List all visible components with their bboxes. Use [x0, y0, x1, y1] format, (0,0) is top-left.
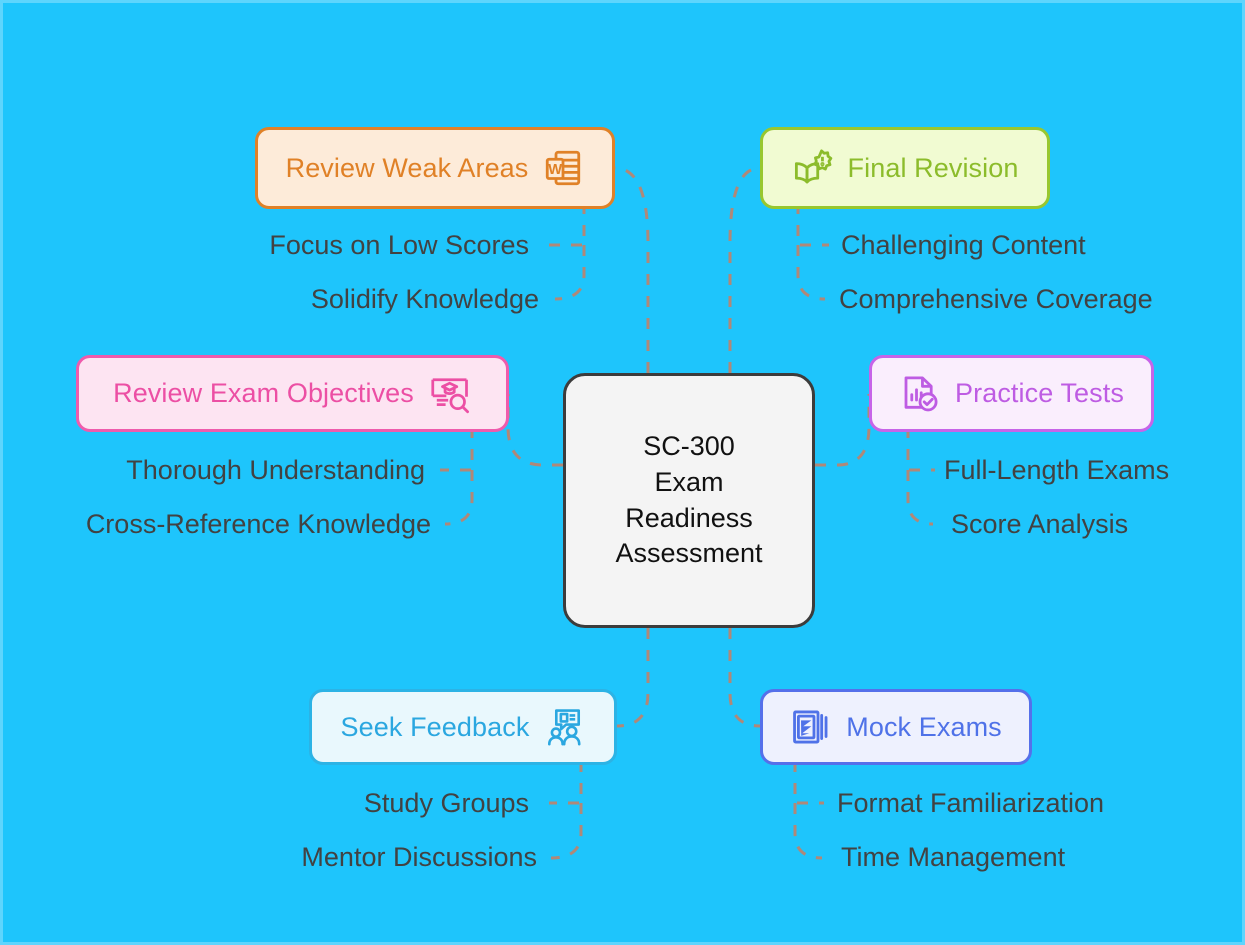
branch-label-review-weak-areas: Review Weak Areas — [286, 155, 529, 182]
branch-node-seek-feedback[interactable]: Seek Feedback — [309, 689, 617, 765]
edge-sf-leaf-1 — [549, 761, 581, 803]
center-node-label: SC-300 Exam Readiness Assessment — [615, 429, 762, 573]
branch-label-seek-feedback: Seek Feedback — [341, 714, 530, 741]
leaf-solidify-knowledge: Solidify Knowledge — [311, 286, 539, 313]
leaf-cross-reference-knowledge: Cross-Reference Knowledge — [86, 511, 431, 538]
edge-sf-leaf-2 — [551, 803, 581, 858]
edge-me-leaf-2 — [795, 803, 822, 858]
center-node[interactable]: SC-300 Exam Readiness Assessment — [563, 373, 815, 628]
branch-node-mock-exams[interactable]: Mock Exams — [760, 689, 1032, 765]
exam-papers-icon — [790, 706, 832, 748]
leaf-score-analysis: Score Analysis — [951, 511, 1128, 538]
edge-center-to-mock-exams — [730, 628, 760, 726]
edge-fr-leaf-1 — [798, 203, 829, 245]
edge-center-to-final-revision — [730, 168, 760, 373]
edge-rwa-leaf-2 — [555, 245, 584, 299]
edge-center-to-review-weak-areas — [615, 168, 648, 373]
branch-label-review-exam-objectives: Review Exam Objectives — [113, 380, 414, 407]
edge-reo-leaf-2 — [445, 470, 472, 524]
leaf-thorough-understanding: Thorough Understanding — [126, 457, 425, 484]
leaf-study-groups: Study Groups — [364, 790, 529, 817]
leaf-format-familiarization: Format Familiarization — [837, 790, 1104, 817]
edge-center-to-practice-tests — [815, 394, 869, 465]
branch-label-final-revision: Final Revision — [848, 155, 1019, 182]
report-check-icon — [899, 373, 941, 415]
branch-label-practice-tests: Practice Tests — [955, 380, 1124, 407]
feedback-people-icon — [543, 706, 585, 748]
edge-center-to-review-exam-objectives — [508, 394, 563, 465]
edge-center-to-seek-feedback — [617, 628, 648, 726]
svg-text:W: W — [549, 162, 563, 178]
leaf-focus-on-low-scores: Focus on Low Scores — [269, 232, 529, 259]
leaf-time-management: Time Management — [841, 844, 1065, 871]
edge-rwa-leaf-1 — [545, 203, 584, 245]
leaf-mentor-discussions: Mentor Discussions — [301, 844, 537, 871]
book-alert-icon — [792, 147, 834, 189]
branch-node-practice-tests[interactable]: Practice Tests — [869, 355, 1154, 432]
leaf-challenging-content: Challenging Content — [841, 232, 1086, 259]
branch-node-review-exam-objectives[interactable]: Review Exam Objectives — [76, 355, 509, 432]
edge-pt-leaf-2 — [908, 470, 933, 524]
edge-me-leaf-1 — [795, 761, 824, 803]
branch-label-mock-exams: Mock Exams — [846, 714, 1002, 741]
leaf-full-length-exams: Full-Length Exams — [944, 457, 1169, 484]
edge-pt-leaf-1 — [908, 427, 935, 470]
leaf-comprehensive-coverage: Comprehensive Coverage — [839, 286, 1153, 313]
graduation-search-icon — [428, 372, 472, 416]
word-document-icon: W — [542, 147, 584, 189]
branch-node-final-revision[interactable]: Final Revision — [760, 127, 1050, 209]
edge-fr-leaf-2 — [798, 245, 825, 299]
mindmap-canvas: SC-300 Exam Readiness Assessment Review … — [0, 0, 1245, 945]
edge-reo-leaf-1 — [440, 427, 472, 470]
branch-node-review-weak-areas[interactable]: Review Weak Areas W — [255, 127, 615, 209]
